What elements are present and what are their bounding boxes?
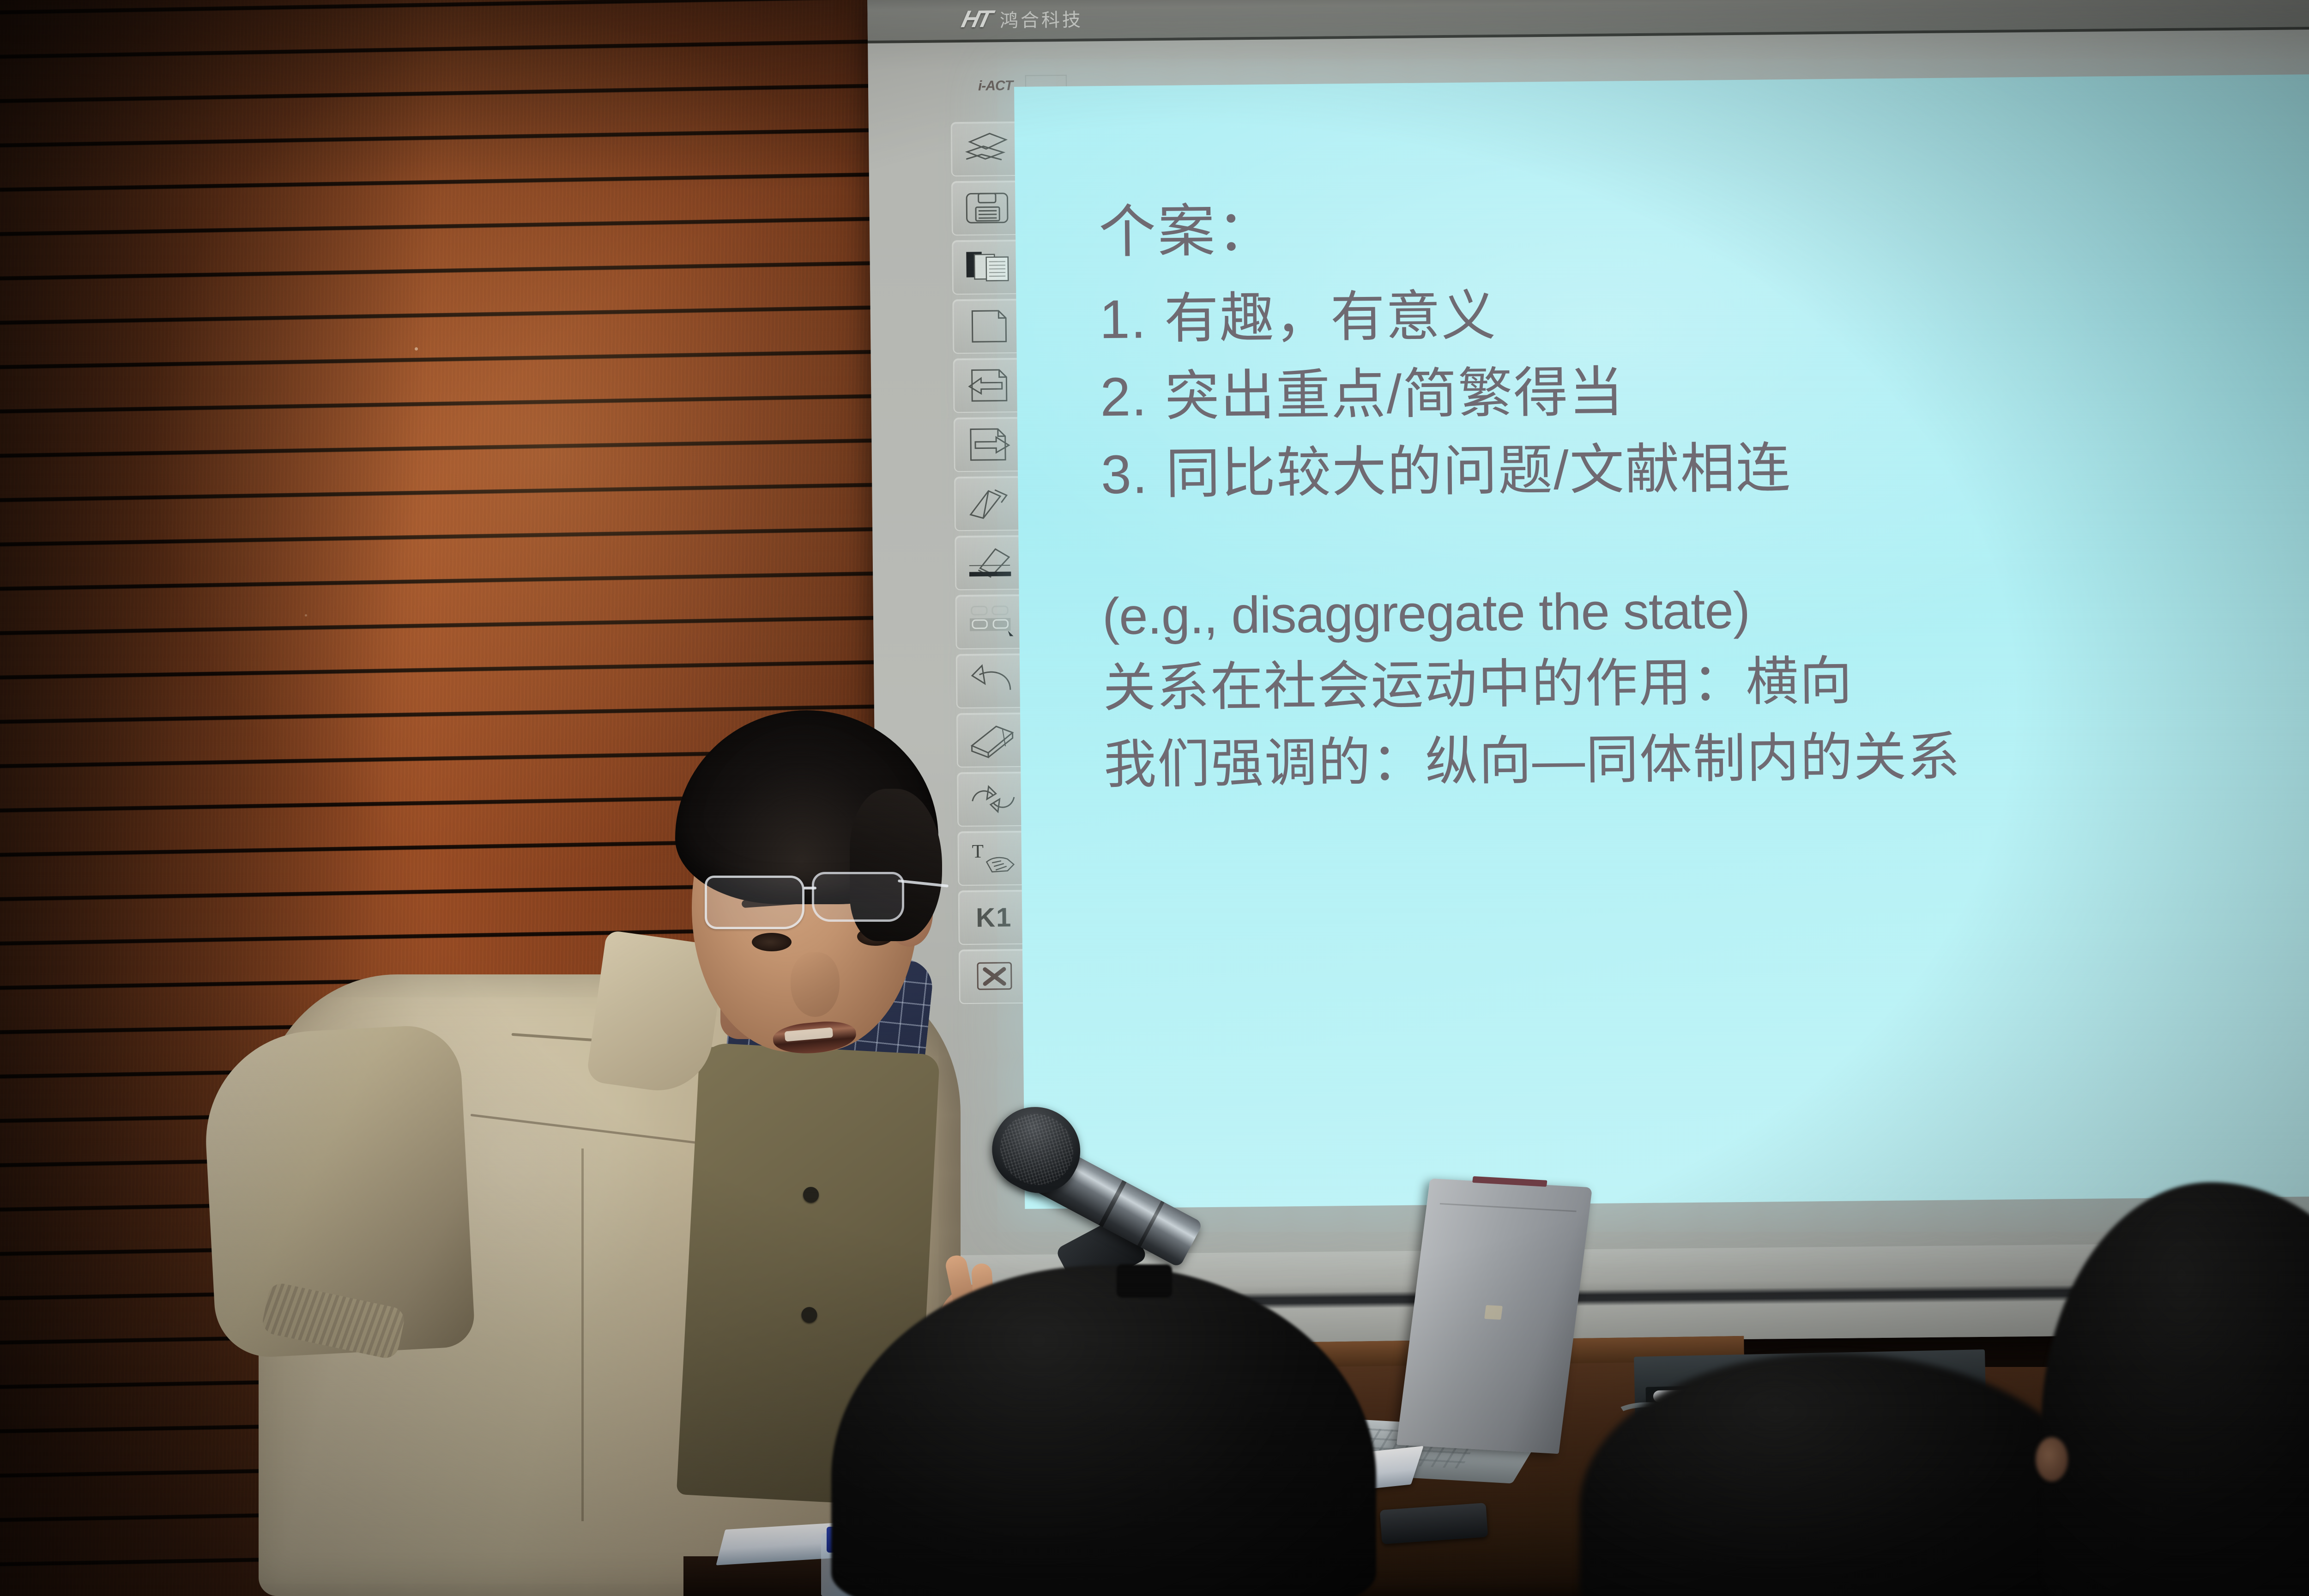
- speaker-head: [665, 710, 956, 1080]
- list-number: 1.: [1099, 281, 1165, 359]
- ht-logo-mark: HT: [959, 5, 993, 33]
- wall-speck: [305, 614, 307, 617]
- eraser-icon[interactable]: [956, 713, 1028, 768]
- laptop-brand-badge: [1484, 1305, 1503, 1320]
- eye-left: [752, 933, 792, 951]
- nose: [791, 952, 840, 1017]
- wall-speck: [415, 347, 418, 351]
- list-number: 2.: [1100, 358, 1166, 436]
- eyeglasses-bridge: [804, 887, 816, 889]
- save-floppy-icon[interactable]: [951, 181, 1023, 236]
- next-page-icon[interactable]: [954, 417, 1025, 472]
- lecture-hall-photo: HT 鸿合科技 i-ACT: [0, 0, 2309, 1596]
- slide-line: 关系在社会运动中的作用：横向: [1103, 638, 2309, 727]
- list-text: 有趣，有意义: [1164, 285, 1497, 350]
- list-text: 同比较大的问题/文献相连: [1165, 437, 1791, 504]
- microphone-ring: [1137, 1201, 1165, 1247]
- mouth: [772, 1019, 857, 1056]
- audience-ear: [2036, 1437, 2068, 1481]
- slide-line: 我们强调的：纵向—同体制内的关系: [1103, 715, 2309, 804]
- slide-list-item: 2.突出重点/简繁得当: [1100, 347, 2309, 436]
- slide-list-item: 3.同比较大的问题/文献相连: [1100, 424, 2309, 514]
- laptop-lid-seam: [1440, 1203, 1577, 1212]
- microphone-ring: [1099, 1180, 1126, 1227]
- slide-content: 个案： 1.有趣，有意义 2.突出重点/简繁得当 3.同比较大的问题/文献相连 …: [1098, 190, 2309, 804]
- laptop-lid[interactable]: [1396, 1179, 1592, 1454]
- teeth: [785, 1028, 834, 1042]
- vest-button: [801, 1306, 818, 1323]
- copy-pages-icon[interactable]: [952, 240, 1023, 295]
- projected-slide-screen: 个案： 1.有趣，有意义 2.突出重点/简繁得当 3.同比较大的问题/文献相连 …: [1014, 73, 2309, 1209]
- eyeglasses-lens-left: [705, 876, 804, 929]
- pen-write-icon[interactable]: [954, 476, 1026, 531]
- whiteboard-top-rail: HT 鸿合科技: [867, 0, 2309, 43]
- new-page-icon[interactable]: [952, 299, 1024, 354]
- list-text: 突出重点/简繁得当: [1165, 362, 1625, 427]
- jacket-zipper: [581, 1149, 584, 1522]
- previous-page-icon[interactable]: [953, 358, 1025, 413]
- slide-spacer: [1101, 502, 2309, 583]
- undo-icon[interactable]: [956, 653, 1028, 708]
- hair-clip: [1117, 1264, 1172, 1298]
- brand-name-label: 鸿合科技: [1000, 5, 1083, 33]
- select-area-icon[interactable]: [955, 594, 1027, 649]
- slide-title: 个案：: [1098, 190, 2309, 263]
- open-file-icon[interactable]: [951, 121, 1022, 176]
- model-label: i-ACT: [978, 78, 1013, 94]
- whiteboard-brand-logo: HT 鸿合科技: [962, 5, 1083, 34]
- eyeglasses-lens-right: [812, 872, 904, 922]
- slide-english-note: (e.g., disaggregate the state): [1102, 571, 2309, 650]
- vest-button: [803, 1186, 819, 1203]
- highlighter-icon[interactable]: [955, 535, 1026, 590]
- slide-list-item: 1.有趣，有意义: [1099, 270, 2309, 359]
- list-number: 3.: [1100, 435, 1166, 514]
